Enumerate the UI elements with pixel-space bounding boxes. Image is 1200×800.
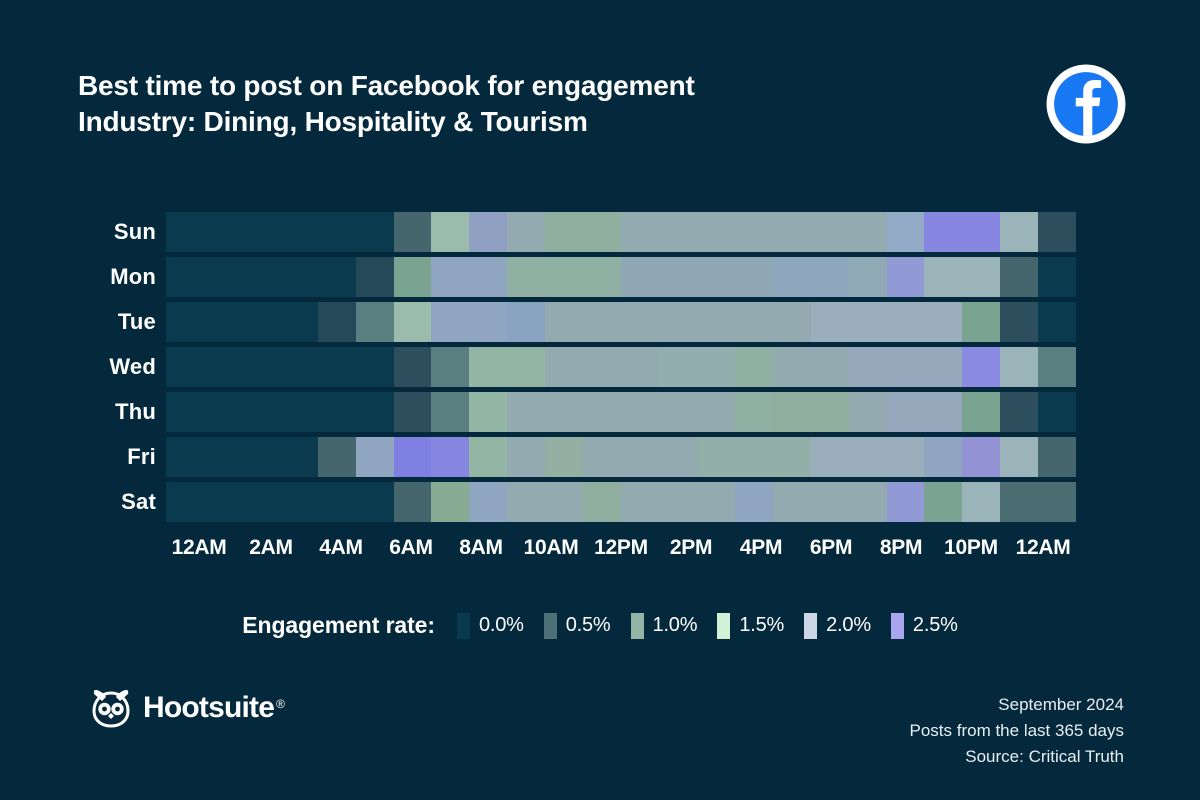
x-axis-time-labels: 12AM2AM4AM6AM8AM10AM12PM2PM4PM6PM8PM10PM… <box>166 536 1076 560</box>
heatmap-cell <box>621 392 659 432</box>
x-axis-tick-label: 6AM <box>376 536 446 560</box>
legend-swatch <box>631 613 644 639</box>
heatmap-cell <box>1038 212 1076 252</box>
heatmap-cell <box>735 437 773 477</box>
y-axis-label: Sun <box>56 212 156 252</box>
heatmap-cell <box>318 392 356 432</box>
heatmap-cell <box>924 392 962 432</box>
heatmap-row <box>166 392 1076 432</box>
heatmap-cell <box>431 437 469 477</box>
heatmap-cell <box>849 392 887 432</box>
heatmap-cell <box>204 257 242 297</box>
heatmap-cell <box>507 437 545 477</box>
heatmap-cell <box>583 347 621 387</box>
heatmap-cell <box>924 437 962 477</box>
heatmap-row <box>166 347 1076 387</box>
heatmap-cell <box>849 437 887 477</box>
heatmap-cell <box>394 257 432 297</box>
heatmap-cell <box>887 257 925 297</box>
heatmap-cell <box>166 212 204 252</box>
heatmap-cell <box>962 482 1000 522</box>
heatmap-cell <box>697 302 735 342</box>
heatmap-cell <box>166 302 204 342</box>
heatmap-cell <box>1000 347 1038 387</box>
heatmap-row <box>166 437 1076 477</box>
legend-label: 2.0% <box>826 614 871 637</box>
heatmap-cell <box>318 302 356 342</box>
legend-item: 2.0% <box>804 613 871 639</box>
heatmap-cell <box>697 392 735 432</box>
heatmap-row <box>166 302 1076 342</box>
heatmap-cell <box>962 257 1000 297</box>
heatmap-grid <box>166 212 1076 526</box>
x-axis-tick-label: 10AM <box>516 536 586 560</box>
heatmap-cell <box>242 257 280 297</box>
footnote: September 2024 Posts from the last 365 d… <box>910 692 1125 769</box>
heatmap-cell <box>773 302 811 342</box>
heatmap-cell <box>887 347 925 387</box>
heatmap-cell <box>394 437 432 477</box>
heatmap-cell <box>962 302 1000 342</box>
heatmap-cell <box>773 482 811 522</box>
heatmap-cell <box>469 257 507 297</box>
legend-label: 0.5% <box>566 614 611 637</box>
heatmap-cell <box>507 302 545 342</box>
heatmap-cell <box>318 437 356 477</box>
heatmap-cell <box>583 212 621 252</box>
heatmap-cell <box>545 302 583 342</box>
heatmap-cell <box>280 347 318 387</box>
heatmap-cell <box>621 257 659 297</box>
heatmap-cell <box>924 302 962 342</box>
legend-swatch <box>804 613 817 639</box>
heatmap-cell <box>849 302 887 342</box>
x-axis-tick-label: 8AM <box>446 536 516 560</box>
legend-label: 2.5% <box>913 614 958 637</box>
x-axis-tick-label: 12AM <box>164 536 234 560</box>
y-axis-label: Fri <box>56 437 156 477</box>
heatmap-cell <box>318 212 356 252</box>
heatmap-cell <box>811 302 849 342</box>
heatmap-cell <box>204 392 242 432</box>
heatmap-cell <box>773 347 811 387</box>
heatmap-cell <box>394 212 432 252</box>
page-subtitle: Industry: Dining, Hospitality & Tourism <box>78 104 695 140</box>
legend: Engagement rate: 0.0%0.5%1.0%1.5%2.0%2.5… <box>0 612 1200 639</box>
heatmap-cell <box>166 482 204 522</box>
heatmap-cell <box>280 212 318 252</box>
heatmap-cell <box>431 482 469 522</box>
hootsuite-owl-icon <box>88 688 134 728</box>
heatmap-cell <box>507 482 545 522</box>
footnote-date: September 2024 <box>910 692 1125 718</box>
heatmap-cell <box>545 212 583 252</box>
x-axis-tick-label: 2PM <box>656 536 726 560</box>
heatmap-cell <box>659 257 697 297</box>
heatmap-cell <box>356 347 394 387</box>
heatmap-cell <box>1038 302 1076 342</box>
heatmap-cell <box>545 257 583 297</box>
heatmap-cell <box>356 437 394 477</box>
infographic-canvas: Best time to post on Facebook for engage… <box>0 0 1200 800</box>
heatmap-cell <box>735 302 773 342</box>
heatmap-cell <box>431 212 469 252</box>
heatmap-cell <box>280 482 318 522</box>
heatmap-cell <box>924 212 962 252</box>
heatmap-cell <box>507 257 545 297</box>
heatmap-cell <box>280 392 318 432</box>
legend-title: Engagement rate: <box>242 612 435 639</box>
heatmap-cell <box>583 257 621 297</box>
heatmap-cell <box>469 347 507 387</box>
hootsuite-logo: Hootsuite ® <box>88 688 285 728</box>
x-axis-tick-label: 12AM <box>1008 536 1078 560</box>
heatmap-cell <box>431 392 469 432</box>
y-axis-label: Sat <box>56 482 156 522</box>
heatmap-cell <box>166 437 204 477</box>
heatmap-cell <box>621 347 659 387</box>
heatmap-cell <box>1000 392 1038 432</box>
x-axis-tick-label: 8PM <box>866 536 936 560</box>
heatmap-cell <box>887 392 925 432</box>
footnote-source: Source: Critical Truth <box>910 744 1125 770</box>
heatmap-cell <box>1000 437 1038 477</box>
heatmap-cell <box>431 302 469 342</box>
heatmap-cell <box>735 347 773 387</box>
heatmap-row <box>166 257 1076 297</box>
heatmap-cell <box>204 437 242 477</box>
heatmap-cell <box>1038 257 1076 297</box>
facebook-icon <box>1044 62 1128 146</box>
heatmap-cell <box>849 257 887 297</box>
heatmap-cell <box>849 482 887 522</box>
heatmap-cell <box>659 437 697 477</box>
heatmap-cell <box>773 212 811 252</box>
x-axis-tick-label: 2AM <box>236 536 306 560</box>
page-title: Best time to post on Facebook for engage… <box>78 68 695 104</box>
heatmap-cell <box>962 347 1000 387</box>
heatmap-cell <box>811 392 849 432</box>
x-axis-tick-label: 6PM <box>796 536 866 560</box>
heatmap-cell <box>431 347 469 387</box>
heatmap-row <box>166 212 1076 252</box>
heatmap-cell <box>242 437 280 477</box>
heatmap-cell <box>583 392 621 432</box>
heatmap-cell <box>1038 482 1076 522</box>
heatmap-cell <box>1000 482 1038 522</box>
heatmap-cell <box>811 257 849 297</box>
legend-swatch <box>717 613 730 639</box>
heatmap-cell <box>242 347 280 387</box>
heatmap-cell <box>242 302 280 342</box>
heatmap-cell <box>583 482 621 522</box>
heatmap-cell <box>394 347 432 387</box>
heatmap-cell <box>356 257 394 297</box>
heatmap-cell <box>545 347 583 387</box>
heatmap-cell <box>204 347 242 387</box>
heatmap-cell <box>1000 257 1038 297</box>
heatmap-cell <box>697 482 735 522</box>
heatmap-cell <box>394 482 432 522</box>
heatmap-cell <box>1000 302 1038 342</box>
heatmap-cell <box>962 437 1000 477</box>
heatmap-row <box>166 482 1076 522</box>
heatmap-cell <box>962 212 1000 252</box>
heatmap-cell <box>697 257 735 297</box>
heatmap-cell <box>735 257 773 297</box>
legend-swatch <box>457 613 470 639</box>
heatmap-cell <box>811 347 849 387</box>
registered-mark: ® <box>276 697 285 711</box>
heatmap-cell <box>280 257 318 297</box>
heatmap-cell <box>697 212 735 252</box>
heatmap-cell <box>659 347 697 387</box>
y-axis-label: Wed <box>56 347 156 387</box>
heatmap-cell <box>166 257 204 297</box>
heatmap-cell <box>1038 347 1076 387</box>
heatmap-cell <box>469 437 507 477</box>
y-axis-label: Mon <box>56 257 156 297</box>
heatmap-cell <box>735 392 773 432</box>
legend-label: 1.0% <box>653 614 698 637</box>
heatmap-cell <box>242 482 280 522</box>
heatmap-cell <box>280 302 318 342</box>
x-axis-tick-label: 4AM <box>306 536 376 560</box>
heatmap-cell <box>849 212 887 252</box>
heatmap-cell <box>659 212 697 252</box>
heatmap-cell <box>318 347 356 387</box>
heatmap-cell <box>545 482 583 522</box>
heatmap-cell <box>242 212 280 252</box>
heatmap-cell <box>469 212 507 252</box>
heatmap-cell <box>431 257 469 297</box>
heatmap-cell <box>204 482 242 522</box>
legend-item: 0.5% <box>544 613 611 639</box>
y-axis-day-labels: Sun Mon Tue Wed Thu Fri Sat <box>56 212 156 526</box>
heatmap-cell <box>773 392 811 432</box>
brand-name: Hootsuite <box>143 691 274 725</box>
heatmap-cell <box>924 257 962 297</box>
heatmap-cell <box>507 212 545 252</box>
heatmap-cell <box>659 302 697 342</box>
heatmap-cell <box>621 437 659 477</box>
heatmap-cell <box>394 392 432 432</box>
heatmap-cell <box>849 347 887 387</box>
header: Best time to post on Facebook for engage… <box>78 68 695 141</box>
heatmap-cell <box>507 392 545 432</box>
heatmap-cell <box>1038 392 1076 432</box>
heatmap-cell <box>507 347 545 387</box>
heatmap-cell <box>166 392 204 432</box>
footnote-range: Posts from the last 365 days <box>910 718 1125 744</box>
legend-swatch <box>891 613 904 639</box>
heatmap-cell <box>545 392 583 432</box>
heatmap-cell <box>697 347 735 387</box>
heatmap-cell <box>469 482 507 522</box>
heatmap-cell <box>1000 212 1038 252</box>
heatmap-cell <box>621 212 659 252</box>
heatmap-cell <box>735 482 773 522</box>
heatmap-cell <box>659 392 697 432</box>
legend-swatch <box>544 613 557 639</box>
heatmap-cell <box>887 212 925 252</box>
legend-items: 0.0%0.5%1.0%1.5%2.0%2.5% <box>457 613 958 639</box>
legend-item: 1.5% <box>717 613 784 639</box>
heatmap-cell <box>773 437 811 477</box>
heatmap-cell <box>583 302 621 342</box>
heatmap-cell <box>204 302 242 342</box>
heatmap-cell <box>280 437 318 477</box>
heatmap-cell <box>773 257 811 297</box>
heatmap-cell <box>887 437 925 477</box>
x-axis-tick-label: 12PM <box>586 536 656 560</box>
heatmap-cell <box>924 482 962 522</box>
heatmap-cell <box>469 302 507 342</box>
heatmap-cell <box>924 347 962 387</box>
heatmap-cell <box>621 302 659 342</box>
heatmap-cell <box>1038 437 1076 477</box>
legend-item: 1.0% <box>631 613 698 639</box>
y-axis-label: Thu <box>56 392 156 432</box>
legend-item: 2.5% <box>891 613 958 639</box>
heatmap-cell <box>697 437 735 477</box>
heatmap-cell <box>356 212 394 252</box>
legend-item: 0.0% <box>457 613 524 639</box>
heatmap-cell <box>811 437 849 477</box>
heatmap-cell <box>166 347 204 387</box>
heatmap-cell <box>621 482 659 522</box>
heatmap-cell <box>356 392 394 432</box>
heatmap-cell <box>962 392 1000 432</box>
heatmap-cell <box>318 257 356 297</box>
legend-label: 1.5% <box>739 614 784 637</box>
legend-label: 0.0% <box>479 614 524 637</box>
heatmap-cell <box>887 302 925 342</box>
y-axis-label: Tue <box>56 302 156 342</box>
heatmap-cell <box>204 212 242 252</box>
heatmap-cell <box>545 437 583 477</box>
x-axis-tick-label: 10PM <box>936 536 1006 560</box>
heatmap-cell <box>735 212 773 252</box>
heatmap-cell <box>356 302 394 342</box>
heatmap-cell <box>583 437 621 477</box>
heatmap-cell <box>242 392 280 432</box>
heatmap-cell <box>356 482 394 522</box>
heatmap-cell <box>659 482 697 522</box>
heatmap-cell <box>811 482 849 522</box>
x-axis-tick-label: 4PM <box>726 536 796 560</box>
heatmap-cell <box>887 482 925 522</box>
heatmap-cell <box>811 212 849 252</box>
heatmap-cell <box>394 302 432 342</box>
heatmap-cell <box>318 482 356 522</box>
heatmap-cell <box>469 392 507 432</box>
